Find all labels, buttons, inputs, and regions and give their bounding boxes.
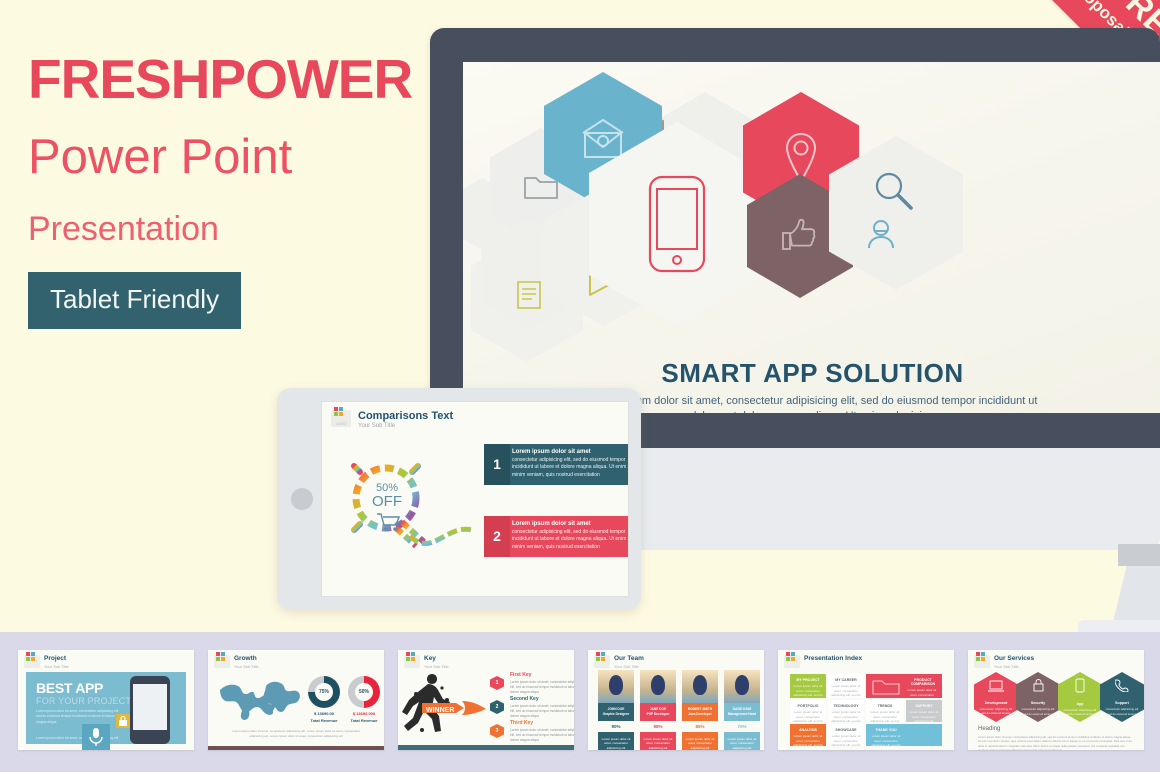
slide-title: SMART APP SOLUTION [463, 358, 1160, 389]
key-number-2: 2 [490, 700, 504, 714]
hexagon-cluster [463, 62, 1160, 392]
lightbulb-graphic: 50% OFF [334, 438, 474, 578]
comparison-number: 1 [484, 444, 510, 485]
slide-logo-placeholder [974, 655, 990, 668]
team-member-card: DAVID KINGManagement Head 70% Lorem ipsu… [724, 670, 760, 750]
slide-body: Lorem ipsum dolor sit amet, consectetur … [583, 394, 1043, 413]
team-member-card: JOHN DOEGraphic Designer 90% Lorem ipsum… [598, 670, 634, 750]
thumb-title: Our Services [994, 655, 1034, 662]
poster-canvas: FRESHPOWER Power Point Presentation Tabl… [0, 0, 1160, 772]
team-member-percent: 90% [598, 724, 634, 729]
folder-icon [872, 678, 900, 698]
donut-percent: 50% [348, 676, 380, 708]
slide-logo-placeholder [24, 655, 40, 668]
thumbs-up-icon [780, 214, 820, 258]
user-icon [865, 218, 897, 255]
avatar [682, 670, 718, 703]
discount-label: OFF [372, 493, 402, 510]
comparison-item-1: 1 Lorem ipsum dolor sit amet consectetur… [484, 444, 629, 485]
team-member-percent: 85% [682, 724, 718, 729]
pinwheel-icon [334, 407, 344, 417]
hero-subtitle: Power Point [28, 133, 428, 182]
svg-text:WINNER: WINNER [426, 707, 454, 714]
world-map-icon [216, 676, 304, 727]
slide-thumbnail-strip: Project Your Sub Title BEST APP FOR YOUR… [0, 632, 1160, 772]
hero-subtitle-secondary: Presentation [28, 212, 428, 246]
key-title-2: Second Key [510, 696, 539, 702]
tablet-mockup: LOGO Comparisons Text Your Sub Title [277, 388, 641, 610]
tablet-slide-title: Comparisons Text [358, 410, 453, 422]
thumb-subtitle: Your Sub Title [994, 664, 1019, 669]
comparison-number: 2 [484, 516, 510, 557]
best-app-panel: BEST APP FOR YOUR PROJECT Lorem ipsum do… [26, 672, 186, 744]
thumb-title: Presentation Index [804, 655, 862, 662]
tablet-screen: LOGO Comparisons Text Your Sub Title [321, 401, 629, 597]
team-member-name: JOHN DOEGraphic Designer [598, 703, 634, 721]
shopping-cart-icon [376, 512, 402, 537]
best-app-headline: BEST APP [36, 680, 103, 696]
thumb-title: Key [424, 655, 436, 662]
key-number-3: 3 [490, 724, 504, 738]
service-hex-security[interactable]: Security consectetur adipisicing elit se… [1016, 672, 1060, 722]
document-icon [516, 280, 542, 310]
winner-ribbon: WINNER [422, 697, 486, 724]
best-app-body-2: Lorem ipsum dolor sit amet, consectetur … [36, 736, 124, 741]
team-member-note: Lorem ipsum dolor sit amet, consectetur … [598, 732, 634, 750]
thumb-title: Growth [234, 655, 257, 662]
best-app-body: Lorem ipsum dolor sit amet, consectetur … [36, 709, 124, 725]
team-member-card: ROBERT SMITHJava Developer 85% Lorem ips… [682, 670, 718, 750]
avatar [724, 670, 760, 703]
index-cell[interactable]: TRENDS Lorem ipsum dolor sit amet, conse… [866, 700, 904, 722]
services-body: Lorem ipsum dolor sit amet, consectetur … [978, 735, 1134, 750]
comparison-item-2: 2 Lorem ipsum dolor sit amet consectetur… [484, 516, 629, 557]
donut-amount: $ 13690.000 [339, 711, 384, 716]
slide-logo-placeholder [404, 655, 420, 668]
team-member-name: DAVID KINGManagement Head [724, 703, 760, 721]
team-member-note: Lorem ipsum dolor sit amet, consectetur … [724, 732, 760, 750]
key-text-3: Lorem ipsum dolor sit amet, consectetur … [510, 728, 574, 742]
thumbnail-growth[interactable]: Growth Your Sub Title 75% $ 13690.00 Tot… [208, 650, 384, 750]
monitor-screen: SMART APP SOLUTION Lorem ipsum dolor sit… [463, 62, 1160, 413]
thumbnail-best-app[interactable]: Project Your Sub Title BEST APP FOR YOUR… [18, 650, 194, 750]
team-member-percent: 70% [724, 724, 760, 729]
key-text-2: Lorem ipsum dolor sit amet, consectetur … [510, 704, 574, 718]
comparison-text: consectetur adipisicing elit, sed do eiu… [512, 457, 629, 479]
donut-label: Total Revenue [339, 718, 384, 723]
team-member-card: JANE DOEPHP Developer 98% Lorem ipsum do… [640, 670, 676, 750]
laptop-icon [988, 679, 1004, 697]
thumb-subtitle: Your Sub Title [614, 664, 639, 669]
index-cell[interactable]: ANALYSIS Lorem ipsum dolor sit amet, con… [790, 724, 826, 746]
team-member-note: Lorem ipsum dolor sit amet, consectetur … [682, 732, 718, 750]
magnifier-icon [873, 170, 915, 217]
growth-footer: Lorem ipsum dolor sit amet, consectetur … [230, 729, 362, 739]
desktop-monitor-mockup: SMART APP SOLUTION Lorem ipsum dolor sit… [430, 28, 1160, 448]
slide-logo-placeholder [214, 655, 230, 668]
thumbnail-our-services[interactable]: Our Services Your Sub Title Development … [968, 650, 1144, 750]
team-member-name: ROBERT SMITHJava Developer [682, 703, 718, 721]
index-cell[interactable]: SHOWCASE Lorem ipsum dolor sit amet, con… [828, 724, 864, 746]
best-app-subheadline: FOR YOUR PROJECT [36, 696, 131, 706]
thumb-title: Project [44, 655, 66, 662]
phone-mockup [130, 676, 170, 744]
phone-call-icon [1115, 678, 1129, 697]
slide-logo-placeholder [784, 655, 800, 668]
service-hex-support[interactable]: Support consectetur adipisicing elit sed… [1100, 672, 1144, 722]
service-hex-development[interactable]: Development consectetur adipisicing elit… [974, 672, 1018, 722]
team-member-percent: 98% [640, 724, 676, 729]
hero-text-block: FRESHPOWER Power Point Presentation Tabl… [28, 52, 428, 329]
donut-chart-2: 50% [348, 676, 380, 708]
thumb-title: Our Team [614, 655, 644, 662]
tablet-slide-subtitle: Your Sub Title [358, 423, 395, 429]
team-member-name: JANE DOEPHP Developer [640, 703, 676, 721]
monitor-stand-neck-top [1118, 544, 1160, 566]
comparison-heading: Lorem ipsum dolor sit amet [512, 521, 629, 527]
key-text-1: Lorem ipsum dolor sit amet, consectetur … [510, 680, 574, 694]
key-title-1: First Key [510, 672, 531, 678]
index-cell[interactable]: PORTFOLIO Lorem ipsum dolor sit amet, co… [790, 700, 826, 722]
service-hex-app[interactable]: App consectetur adipisicing elit sed do … [1058, 672, 1102, 722]
team-member-note: Lorem ipsum dolor sit amet, consectetur … [640, 732, 676, 750]
donut-chart-1: 75% [308, 676, 340, 708]
slide-logo-placeholder [594, 655, 610, 668]
services-heading: Heading [978, 726, 1000, 732]
index-cell[interactable]: TECHNOLOGY Lorem ipsum dolor sit amet, c… [828, 700, 864, 722]
key-title-3: Third Key [510, 720, 533, 726]
mobile-icon [1075, 678, 1085, 698]
smartphone-icon [646, 173, 708, 275]
page-title: FRESHPOWER [28, 52, 428, 107]
thumb-subtitle: Your Sub Title [234, 664, 259, 669]
microphone-icon [82, 724, 110, 750]
thumbnail-presentation-index[interactable]: Presentation Index MY PROJECT Lorem ipsu… [778, 650, 954, 750]
lock-icon [1032, 678, 1045, 697]
logo-label: LOGO [331, 421, 351, 426]
thumb-subtitle: Your Sub Title [424, 664, 449, 669]
index-cell[interactable]: SUPPORT Lorem ipsum dolor sit amet, cons… [906, 700, 942, 722]
donut-percent: 75% [308, 676, 340, 708]
thumbnail-key[interactable]: Key Your Sub Title WINNER 1 First Key Lo… [398, 650, 574, 750]
thumb-subtitle: Your Sub Title [44, 664, 69, 669]
index-cell[interactable]: THANK YOU Lorem ipsum dolor sit amet, co… [866, 724, 942, 746]
avatar [598, 670, 634, 703]
index-cell[interactable]: MY PROJECT Lorem ipsum dolor sit amet, c… [790, 674, 826, 698]
comparison-heading: Lorem ipsum dolor sit amet [512, 449, 629, 455]
comparison-text: consectetur adipisicing elit, sed do eiu… [512, 529, 629, 551]
avatar [640, 670, 676, 703]
lock-icon [116, 714, 130, 728]
key-number-1: 1 [490, 676, 504, 690]
index-cell[interactable]: PRODUCT COMPARISON Lorem ipsum dolor sit… [866, 674, 942, 698]
slide-logo-placeholder: LOGO [331, 410, 351, 427]
tablet-friendly-badge: Tablet Friendly [28, 272, 241, 329]
thumbnail-our-team[interactable]: Our Team Your Sub Title JOHN DOEGraphic … [588, 650, 764, 750]
index-cell[interactable]: MY CAREER Lorem ipsum dolor sit amet, co… [828, 674, 864, 698]
tablet-home-button[interactable] [291, 488, 313, 510]
